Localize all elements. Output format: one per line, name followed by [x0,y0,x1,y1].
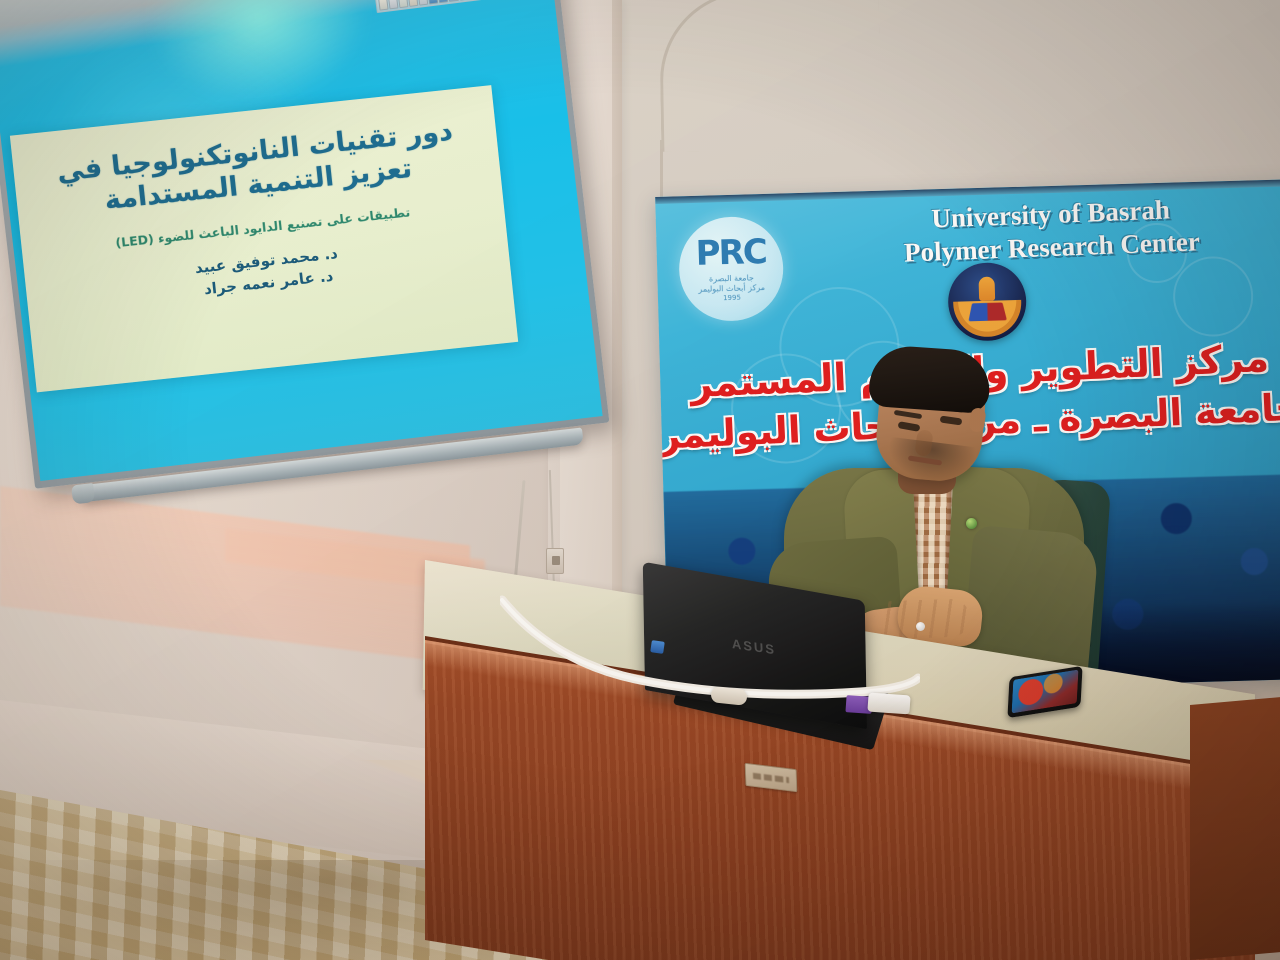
emblem-figure-icon [979,277,996,301]
white-usb-cable [500,592,920,712]
emblem-book-icon [968,302,1007,321]
prc-logo: PRC جامعة البصرة مركز أبحاث البوليمر 199… [678,216,785,323]
presentation-slide: دور تقنيات النانوتكنولوجيا في تعزيز التن… [10,85,518,392]
prc-logo-subtitle: جامعة البصرة مركز أبحاث البوليمر 1995 [698,273,765,304]
whiteboard-frame: دور تقنيات النانوتكنولوجيا في تعزيز التن… [0,0,609,489]
presenter-lapel-pin [966,518,977,529]
file-icon[interactable] [378,0,389,10]
presenter-hair [868,344,992,414]
usb-adapter[interactable] [867,693,910,715]
wall-socket[interactable] [546,548,564,574]
molecule-ring-icon-5 [1172,255,1254,337]
blue-usb-stick[interactable] [650,640,665,654]
room-scene: PRC جامعة البصرة مركز أبحاث البوليمر 199… [0,0,1280,960]
projected-screen[interactable]: دور تقنيات النانوتكنولوجيا في تعزيز التن… [0,0,603,481]
presenter-ear [968,407,986,433]
text-icon[interactable] [448,0,459,1]
prc-logo-subtitle-ar2: مركز أبحاث البوليمر [698,283,765,294]
presentation-toolbar[interactable] [375,0,542,13]
university-emblem-icon [947,262,1027,342]
copy-icon[interactable] [408,0,419,6]
projection-whiteboard[interactable]: دور تقنيات النانوتكنولوجيا في تعزيز التن… [0,0,619,550]
shape-icon[interactable] [438,0,449,3]
cut-icon[interactable] [398,0,409,8]
smartphone-screen[interactable] [1012,669,1079,713]
prc-logo-year: 1995 [699,293,766,304]
desk-right-side [1190,697,1280,960]
prc-logo-subtitle-ar: جامعة البصرة [709,273,754,283]
ceiling-cable [659,0,882,152]
image-icon[interactable] [428,0,439,4]
open-icon[interactable] [388,0,399,9]
prc-acronym: PRC [695,235,766,271]
paste-icon[interactable] [418,0,429,5]
